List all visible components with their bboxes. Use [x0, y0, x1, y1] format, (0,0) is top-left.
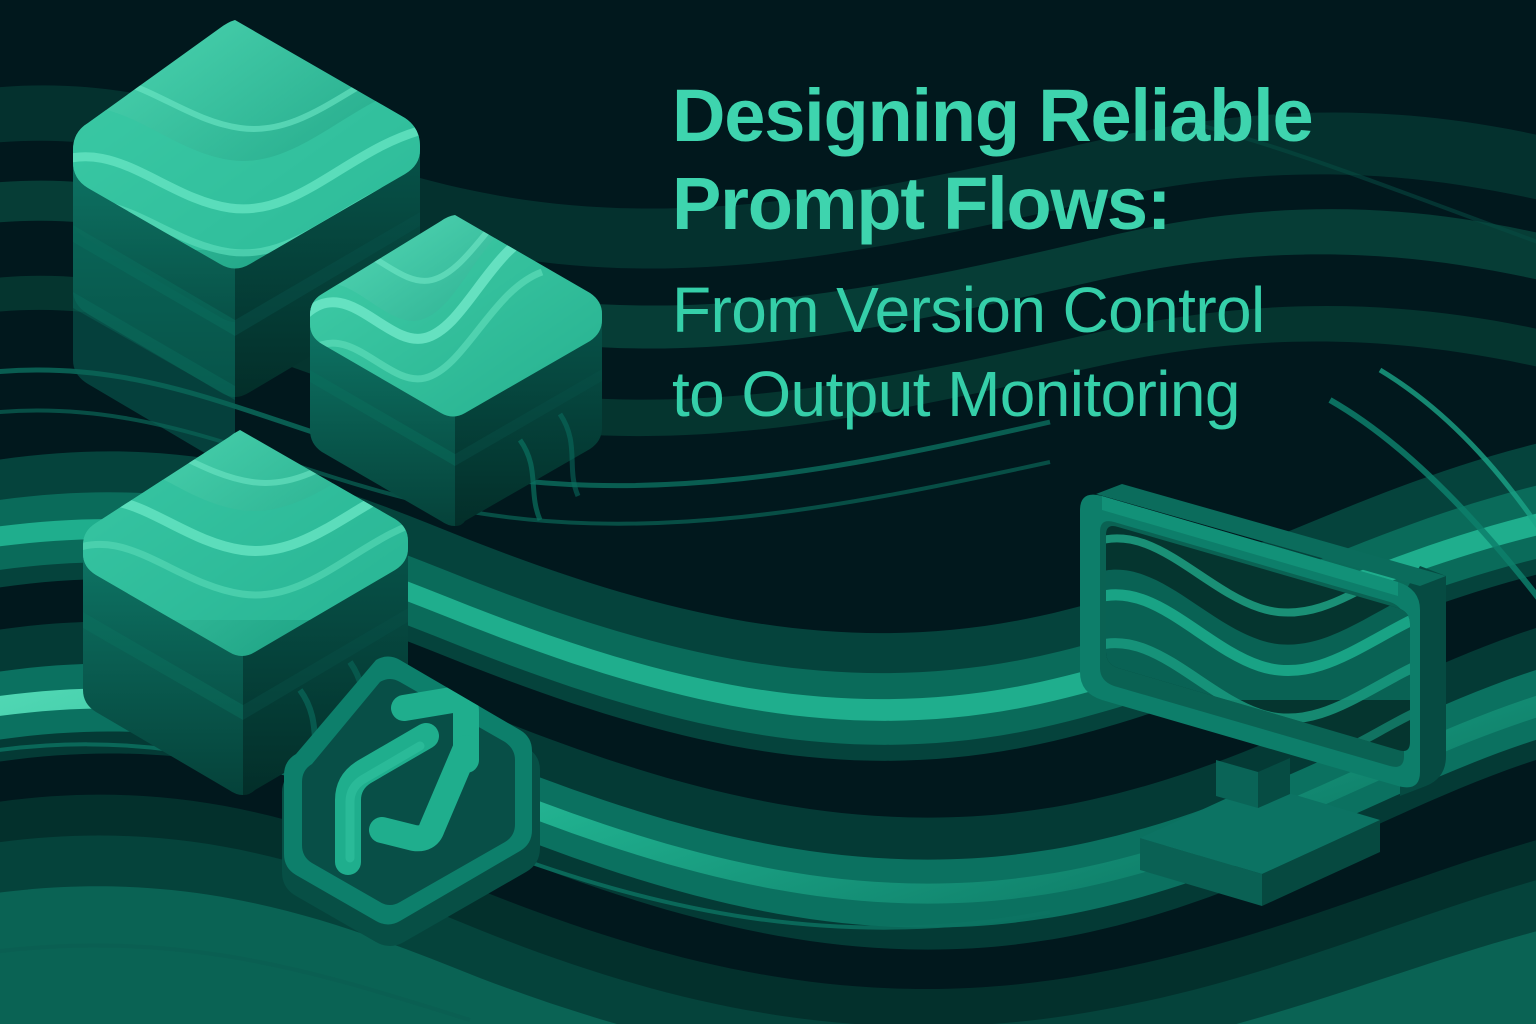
title-line-2: Prompt Flows:	[672, 160, 1432, 248]
subtitle-block: From Version Control to Output Monitorin…	[672, 268, 1432, 436]
title-block: Designing Reliable Prompt Flows: From Ve…	[672, 72, 1432, 436]
hero-banner: Designing Reliable Prompt Flows: From Ve…	[0, 0, 1536, 1024]
subtitle-line-2: to Output Monitoring	[672, 352, 1432, 436]
title-line-1: Designing Reliable	[672, 72, 1432, 160]
subtitle-line-1: From Version Control	[672, 268, 1432, 352]
